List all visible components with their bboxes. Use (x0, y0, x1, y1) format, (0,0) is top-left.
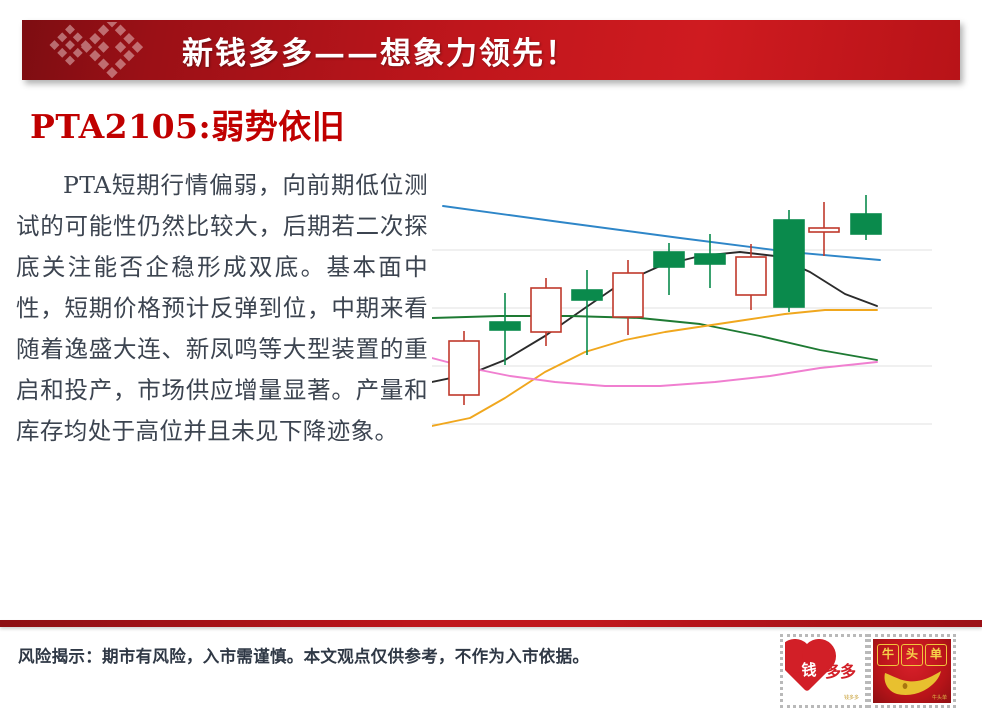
stamp-inner: 牛 头 单 牛头单 (873, 639, 951, 703)
footer-logos: 钱 多多 钱多多 牛 头 单 牛头单 (780, 634, 970, 712)
stamp-text: 多多 (825, 658, 855, 682)
stamp-inner: 钱 多多 钱多多 (785, 639, 863, 703)
candle-6 (695, 234, 725, 288)
ma-black (432, 252, 877, 382)
stamp-mark: 牛头单 (932, 694, 947, 701)
candle-9 (809, 202, 839, 256)
stamp-char-1: 牛 (877, 644, 899, 666)
candle-8 (774, 210, 804, 312)
header-banner: 新钱多多——想象力领先！ (22, 20, 960, 80)
candle-2 (531, 278, 561, 346)
banner-title: 新钱多多——想象力领先！ (182, 20, 578, 80)
candle-5 (654, 243, 684, 295)
page-title: PTA2105:弱势依旧 (30, 100, 345, 148)
stamp-char-3: 单 (925, 644, 947, 666)
footer-divider (0, 620, 982, 627)
chart-canvas (432, 160, 932, 450)
candle-4 (613, 260, 643, 335)
body-paragraph: PTA短期行情偏弱，向前期低位测试的可能性仍然比较大，后期若二次探底关注能否企稳… (16, 165, 428, 452)
niu-tou-dan-stamp: 牛 头 单 牛头单 (868, 634, 956, 708)
candle-10 (851, 195, 881, 240)
bull-head-icon (881, 667, 943, 697)
stamp-char-2: 头 (901, 644, 923, 666)
stamp-chars: 牛 头 单 (873, 644, 951, 666)
stamp-heart-char: 钱 (795, 659, 823, 680)
stamp-mark: 钱多多 (844, 694, 859, 701)
candle-0 (449, 331, 479, 405)
candlestick-chart (432, 160, 932, 450)
disclaimer-text: 风险揭示：期市有风险，入市需谨慎。本文观点仅供参考，不作为入市依据。 (18, 643, 589, 667)
candle-3 (572, 270, 602, 355)
qian-duo-duo-stamp: 钱 多多 钱多多 (780, 634, 868, 708)
diamond-pattern-logo (40, 22, 170, 78)
